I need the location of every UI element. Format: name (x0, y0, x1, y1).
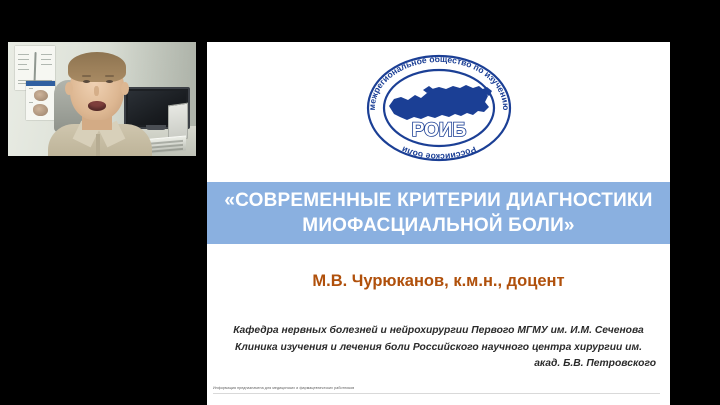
video-frame: межрегиональное общество по изучению Рос… (0, 0, 720, 405)
speaker-eyebrow-left (82, 75, 91, 77)
speaker-mouth (88, 101, 106, 111)
monitor-stand (146, 125, 166, 130)
slide-title-banner: «СОВРЕМЕННЫЕ КРИТЕРИИ ДИАГНОСТИКИ МИОФАС… (207, 182, 670, 244)
affiliation-line-2: Клиника изучения и лечения боли Российск… (221, 340, 656, 357)
slide-title-line-1: «СОВРЕМЕННЫЕ КРИТЕРИИ ДИАГНОСТИКИ (224, 188, 652, 213)
anatomy-poster-organs (26, 81, 55, 120)
affiliation-line-1: Кафедра нервных болезней и нейрохирургии… (221, 323, 656, 340)
speaker-nose (94, 86, 99, 96)
shirt-placket (96, 134, 100, 156)
speaker-eye-right (106, 80, 113, 83)
affiliation-line-3: акад. Б.В. Петровского (221, 356, 656, 373)
society-logo: межрегиональное общество по изучению Рос… (207, 54, 670, 162)
logo-acronym: РОИБ (411, 120, 466, 141)
speaker-ear-left (65, 82, 73, 95)
slide-author: М.В. Чурюканов, к.м.н., доцент (207, 272, 670, 291)
speaker-eyebrow-right (105, 75, 114, 77)
presentation-slide[interactable]: межрегиональное общество по изучению Рос… (207, 42, 670, 405)
speaker-hair (68, 52, 126, 82)
speaker-ear-right (121, 82, 129, 95)
disclaimer-divider (213, 393, 660, 394)
slide-affiliation: Кафедра нервных болезней и нейрохирургии… (221, 323, 656, 373)
slide-disclaimer: Информация предназначена для медицинских… (207, 386, 670, 390)
poster-header-bar (26, 81, 55, 86)
roib-emblem-icon: межрегиональное общество по изучению Рос… (363, 54, 515, 162)
speaker-eye-left (83, 80, 90, 83)
slide-title-line-2: МИОФАСЦИАЛЬНОЙ БОЛИ» (302, 213, 574, 238)
speaker-webcam-feed[interactable] (8, 42, 196, 156)
